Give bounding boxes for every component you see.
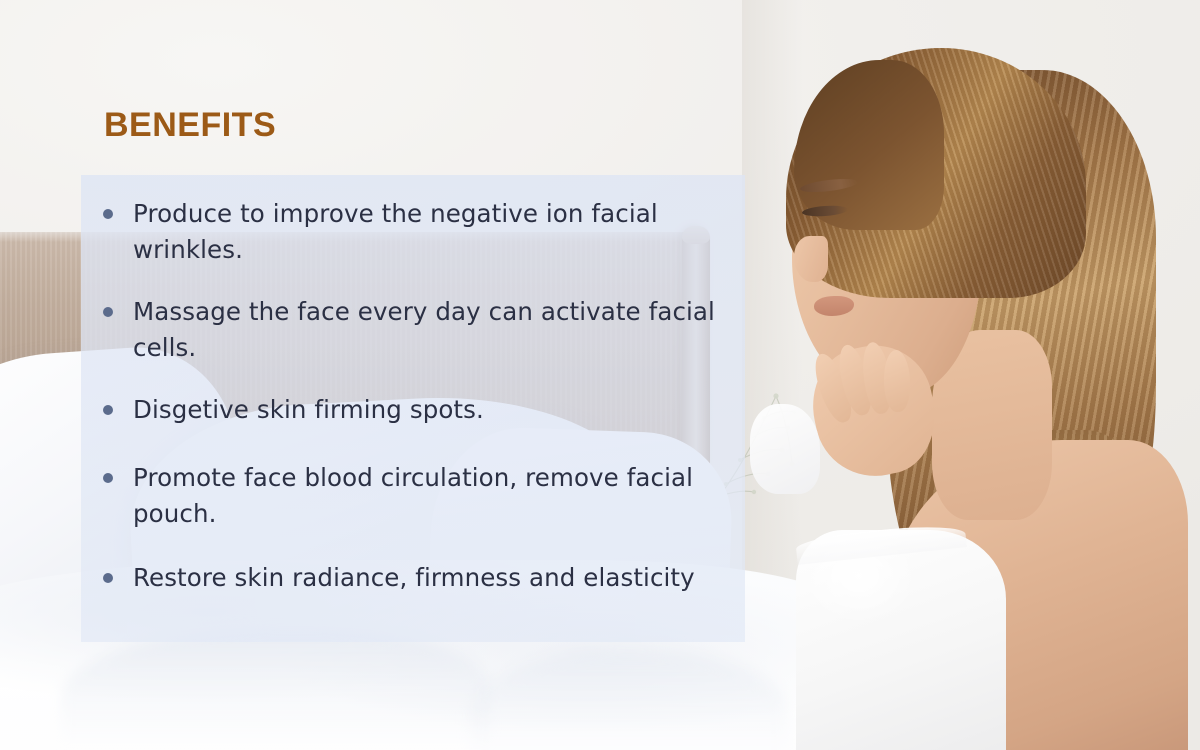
list-item: Promote face blood circulation, remove f…: [100, 460, 760, 532]
benefits-list: Produce to improve the negative ion faci…: [100, 196, 790, 596]
list-item: Massage the face every day can activate …: [100, 294, 760, 366]
page-title: BENEFITS: [104, 106, 276, 145]
bullet-dot-icon: [103, 209, 113, 219]
bullet-dot-icon: [103, 307, 113, 317]
list-item-label: Produce to improve the negative ion faci…: [133, 199, 658, 264]
list-item: Produce to improve the negative ion faci…: [100, 196, 760, 268]
list-item: Restore skin radiance, firmness and elas…: [100, 560, 760, 596]
content-overlay: BENEFITS Produce to improve the negative…: [0, 0, 1200, 750]
list-item-label: Disgetive skin firming spots.: [133, 395, 484, 424]
list-item-label: Massage the face every day can activate …: [133, 297, 715, 362]
list-item-label: Promote face blood circulation, remove f…: [133, 463, 693, 528]
list-item-label: Restore skin radiance, firmness and elas…: [133, 563, 695, 592]
bullet-dot-icon: [103, 473, 113, 483]
list-item: Disgetive skin firming spots.: [100, 392, 760, 428]
bullet-dot-icon: [103, 573, 113, 583]
bullet-dot-icon: [103, 405, 113, 415]
